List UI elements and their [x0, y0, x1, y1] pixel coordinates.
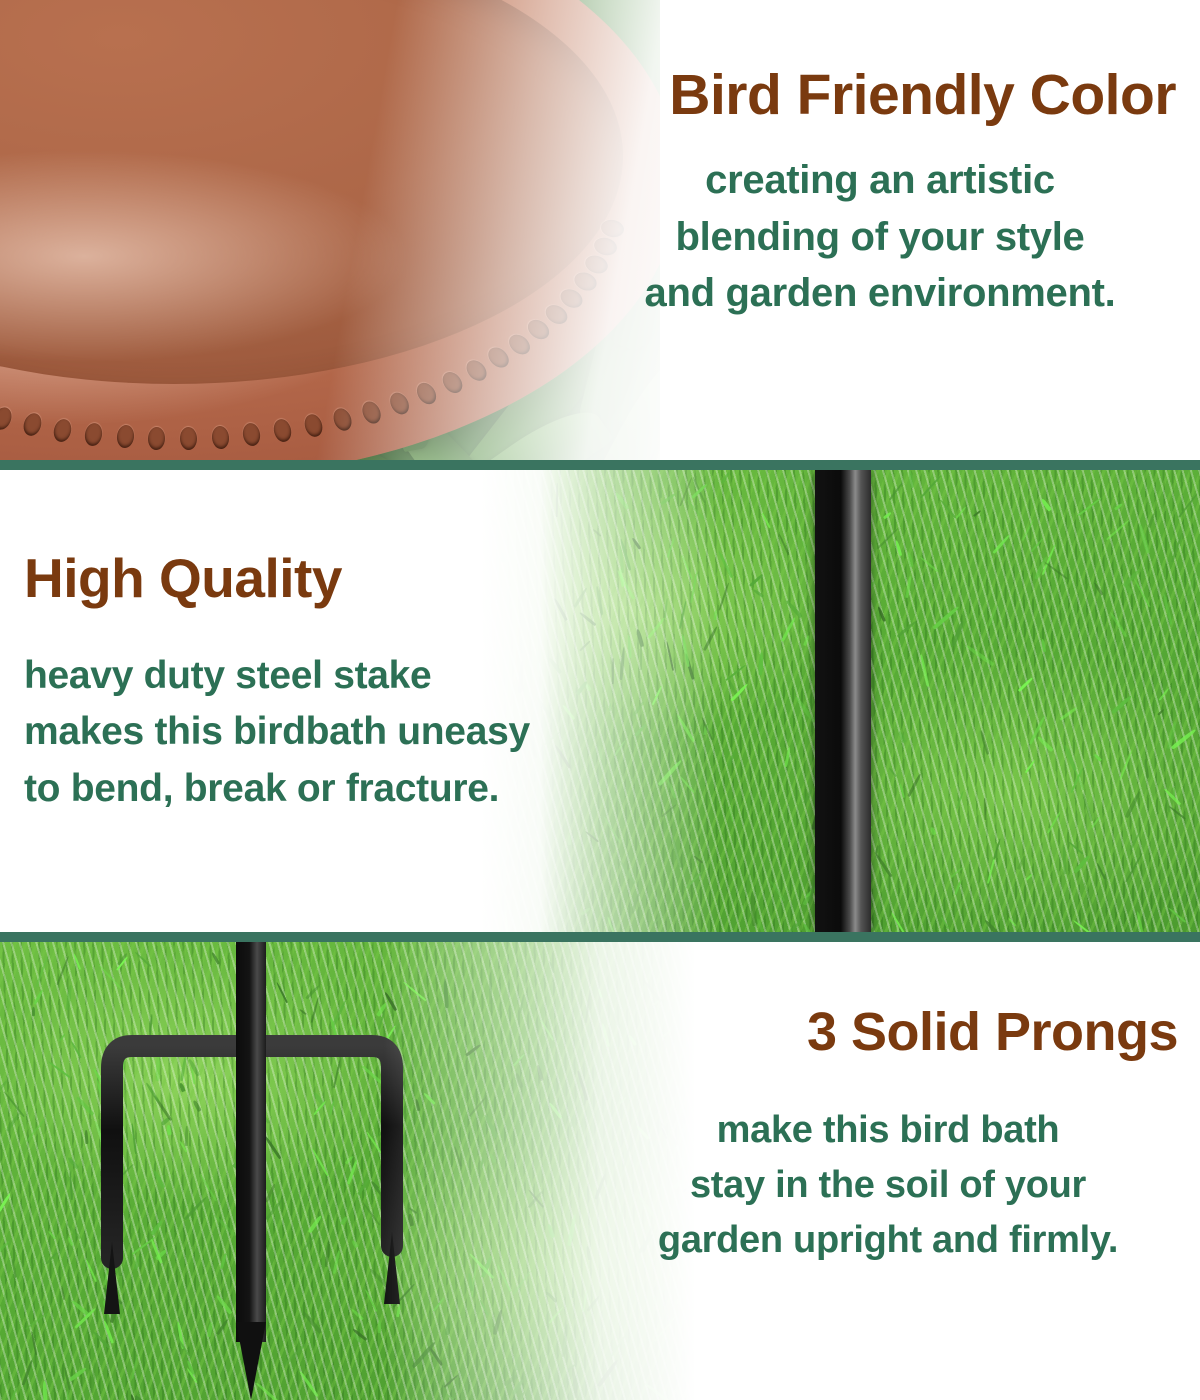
panel-1-body-line-3: and garden environment. [580, 265, 1180, 322]
product-feature-infographic: Bird Friendly Color creating an artistic… [0, 0, 1200, 1400]
panel-2-text-block: High Quality heavy duty steel stake make… [24, 550, 644, 817]
panel-1-heading: Bird Friendly Color [580, 66, 1180, 126]
panel-2-heading: High Quality [24, 550, 644, 608]
panel-1-body-line-1: creating an artistic [580, 152, 1180, 209]
feature-panel-bird-friendly-color: Bird Friendly Color creating an artistic… [0, 0, 1200, 460]
panel-1-body-line-2: blending of your style [580, 209, 1180, 266]
feature-panel-high-quality: High Quality heavy duty steel stake make… [0, 470, 1200, 932]
panel-divider-2 [0, 932, 1200, 942]
panel-3-body-line-3: garden upright and firmly. [598, 1213, 1178, 1268]
panel-3-body-line-1: make this bird bath [598, 1103, 1178, 1158]
feature-panel-3-solid-prongs: 3 Solid Prongs make this bird bath stay … [0, 942, 1200, 1400]
panel-3-heading: 3 Solid Prongs [598, 1004, 1178, 1061]
panel-2-body-line-3: to bend, break or fracture. [24, 761, 644, 818]
panel-3-body-text: make this bird bath stay in the soil of … [598, 1103, 1178, 1268]
panel-1-text-block: Bird Friendly Color creating an artistic… [580, 66, 1180, 322]
panel-1-body-text: creating an artistic blending of your st… [580, 152, 1180, 322]
panel-2-body-line-2: makes this birdbath uneasy [24, 704, 644, 761]
panel-divider-1 [0, 460, 1200, 470]
panel-2-body-line-1: heavy duty steel stake [24, 648, 644, 705]
panel-2-body-text: heavy duty steel stake makes this birdba… [24, 648, 644, 818]
panel-3-text-block: 3 Solid Prongs make this bird bath stay … [598, 1004, 1178, 1268]
panel-3-body-line-2: stay in the soil of your [598, 1158, 1178, 1213]
